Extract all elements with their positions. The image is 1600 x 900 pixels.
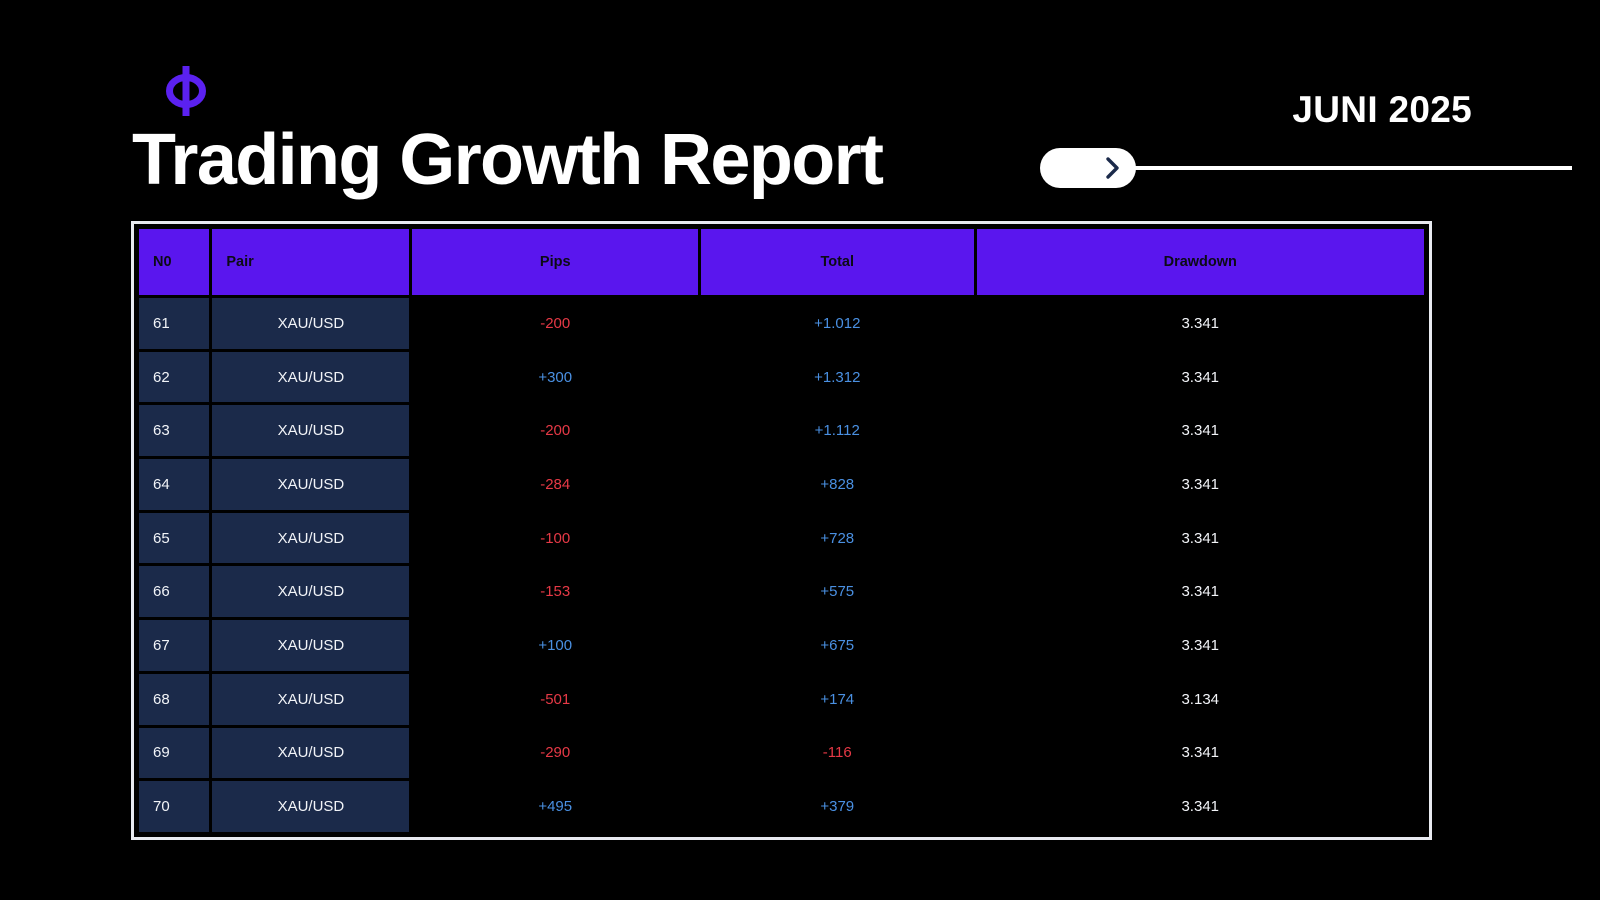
table-row[interactable]: 69XAU/USD-290-1163.341 — [139, 728, 1424, 779]
row-pips: +300 — [412, 352, 698, 403]
row-total: -116 — [701, 728, 973, 779]
row-drawdown: 3.341 — [977, 566, 1425, 617]
row-number: 65 — [139, 513, 209, 564]
row-drawdown: 3.134 — [977, 674, 1425, 725]
row-pair: XAU/USD — [212, 298, 409, 349]
chevron-right-icon — [1104, 155, 1122, 181]
row-drawdown: 3.341 — [977, 405, 1425, 456]
table-head: N0 Pair Pips Total Drawdown — [139, 229, 1424, 295]
phi-circle-logo-icon — [164, 66, 208, 116]
row-pair: XAU/USD — [212, 459, 409, 510]
row-pips: +495 — [412, 781, 698, 832]
row-number: 66 — [139, 566, 209, 617]
report-page: Trading Growth Report JUNI 2025 N0 Pai — [0, 0, 1600, 900]
trading-results-table: N0 Pair Pips Total Drawdown 61XAU/USD-20… — [131, 221, 1432, 840]
table-row[interactable]: 64XAU/USD-284+8283.341 — [139, 459, 1424, 510]
column-header-pips[interactable]: Pips — [412, 229, 698, 295]
row-total: +1.112 — [701, 405, 973, 456]
row-drawdown: 3.341 — [977, 459, 1425, 510]
table-row[interactable]: 62XAU/USD+300+1.3123.341 — [139, 352, 1424, 403]
row-number: 68 — [139, 674, 209, 725]
row-total: +575 — [701, 566, 973, 617]
table-row[interactable]: 63XAU/USD-200+1.1123.341 — [139, 405, 1424, 456]
row-number: 63 — [139, 405, 209, 456]
row-pair: XAU/USD — [212, 566, 409, 617]
row-pips: -200 — [412, 405, 698, 456]
row-pips: -153 — [412, 566, 698, 617]
row-number: 61 — [139, 298, 209, 349]
progress-track[interactable] — [1134, 166, 1572, 170]
row-pair: XAU/USD — [212, 352, 409, 403]
row-number: 67 — [139, 620, 209, 671]
table-row[interactable]: 65XAU/USD-100+7283.341 — [139, 513, 1424, 564]
table-row[interactable]: 66XAU/USD-153+5753.341 — [139, 566, 1424, 617]
row-drawdown: 3.341 — [977, 781, 1425, 832]
row-drawdown: 3.341 — [977, 728, 1425, 779]
table-row[interactable]: 70XAU/USD+495+3793.341 — [139, 781, 1424, 832]
row-pair: XAU/USD — [212, 620, 409, 671]
table-row[interactable]: 68XAU/USD-501+1743.134 — [139, 674, 1424, 725]
table-header-row: N0 Pair Pips Total Drawdown — [139, 229, 1424, 295]
row-number: 62 — [139, 352, 209, 403]
row-pips: -284 — [412, 459, 698, 510]
row-total: +379 — [701, 781, 973, 832]
report-header: Trading Growth Report JUNI 2025 — [0, 0, 1600, 215]
column-header-pair[interactable]: Pair — [212, 229, 409, 295]
row-total: +1.012 — [701, 298, 973, 349]
progress-indicator — [1040, 146, 1572, 190]
row-number: 69 — [139, 728, 209, 779]
row-total: +675 — [701, 620, 973, 671]
row-pips: +100 — [412, 620, 698, 671]
report-month-label: JUNI 2025 — [1292, 91, 1472, 128]
row-number: 64 — [139, 459, 209, 510]
table-body: 61XAU/USD-200+1.0123.34162XAU/USD+300+1.… — [139, 298, 1424, 832]
row-drawdown: 3.341 — [977, 298, 1425, 349]
row-drawdown: 3.341 — [977, 513, 1425, 564]
row-pair: XAU/USD — [212, 513, 409, 564]
column-header-drawdown[interactable]: Drawdown — [977, 229, 1425, 295]
column-header-total[interactable]: Total — [701, 229, 973, 295]
column-header-no[interactable]: N0 — [139, 229, 209, 295]
row-total: +828 — [701, 459, 973, 510]
row-pair: XAU/USD — [212, 674, 409, 725]
table-row[interactable]: 61XAU/USD-200+1.0123.341 — [139, 298, 1424, 349]
row-pips: -200 — [412, 298, 698, 349]
row-drawdown: 3.341 — [977, 620, 1425, 671]
table-row[interactable]: 67XAU/USD+100+6753.341 — [139, 620, 1424, 671]
row-drawdown: 3.341 — [977, 352, 1425, 403]
row-pips: -501 — [412, 674, 698, 725]
row-total: +1.312 — [701, 352, 973, 403]
row-pips: -290 — [412, 728, 698, 779]
row-pair: XAU/USD — [212, 728, 409, 779]
next-page-button[interactable] — [1040, 148, 1136, 188]
row-total: +174 — [701, 674, 973, 725]
row-total: +728 — [701, 513, 973, 564]
page-title: Trading Growth Report — [132, 124, 882, 196]
row-pair: XAU/USD — [212, 405, 409, 456]
row-pair: XAU/USD — [212, 781, 409, 832]
row-pips: -100 — [412, 513, 698, 564]
row-number: 70 — [139, 781, 209, 832]
